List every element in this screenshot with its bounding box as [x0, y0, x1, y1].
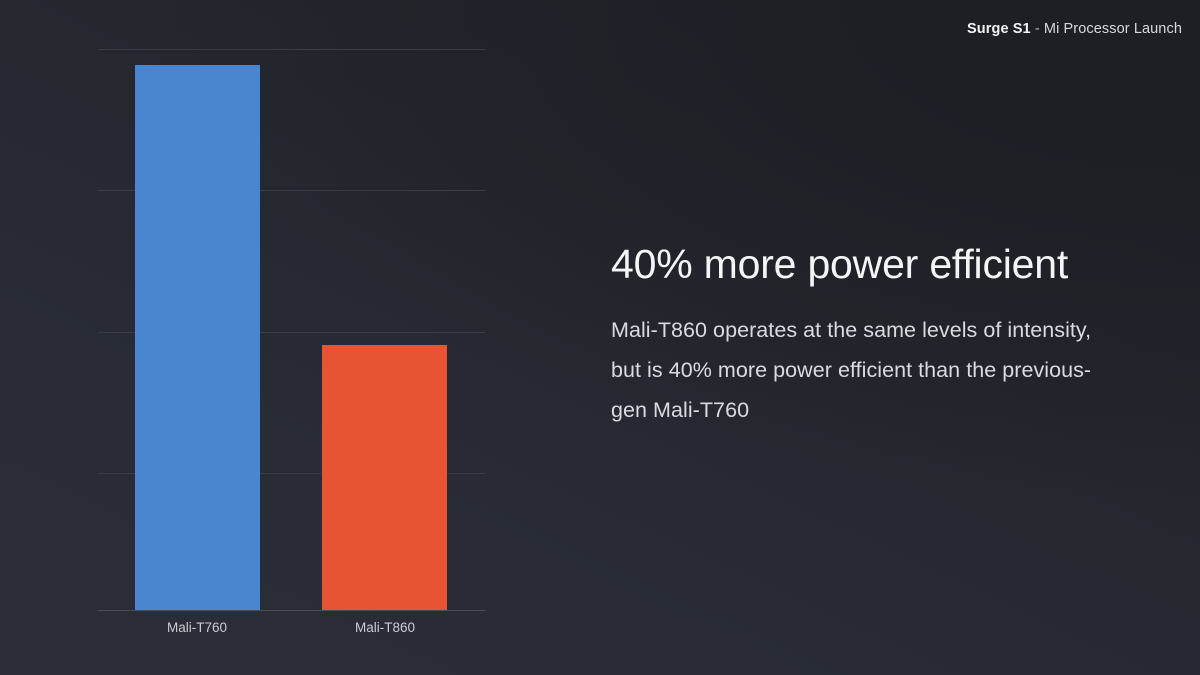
copy-block: 40% more power efficient Mali-T860 opera…	[611, 238, 1131, 430]
header-separator: -	[1031, 21, 1044, 37]
presentation-slide: Surge S1 - Mi Processor Launch Mali-T760…	[0, 0, 1200, 675]
header-brand: Surge S1	[967, 21, 1031, 37]
header-subtitle: Mi Processor Launch	[1044, 21, 1182, 37]
chart-x-axis-labels: Mali-T760 Mali-T860	[98, 618, 485, 640]
x-axis-line	[98, 610, 485, 611]
bar-mali-t860[interactable]	[322, 345, 447, 610]
chart-bars	[98, 49, 485, 610]
x-label-mali-t760: Mali-T760	[167, 618, 227, 638]
bar-mali-t760[interactable]	[135, 65, 260, 610]
slide-header: Surge S1 - Mi Processor Launch	[967, 20, 1182, 38]
x-label-mali-t860: Mali-T860	[355, 618, 415, 638]
chart-plot-area	[98, 49, 485, 611]
bar-chart: Mali-T760 Mali-T860	[0, 0, 560, 675]
body-copy: Mali-T860 operates at the same levels of…	[611, 310, 1101, 430]
headline: 40% more power efficient	[611, 238, 1131, 290]
